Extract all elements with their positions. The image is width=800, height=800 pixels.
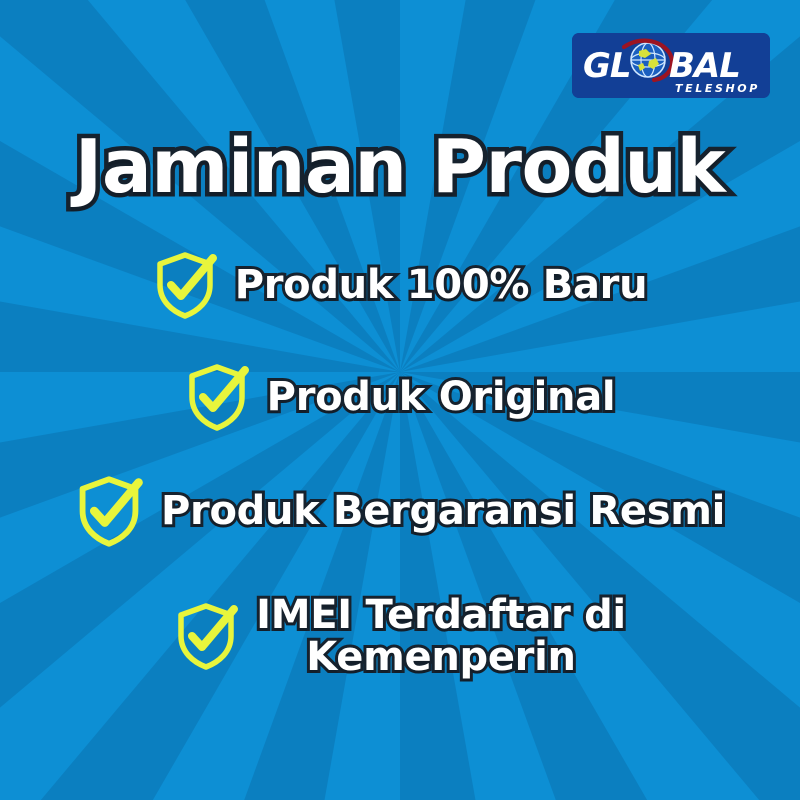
brand-logo-artwork: GL BAL TELESHOP	[572, 33, 770, 98]
shield-check-icon	[174, 601, 238, 671]
feature-row: IMEI Terdaftar di Kemenperin	[0, 594, 800, 679]
brand-logo[interactable]: GL BAL TELESHOP	[572, 33, 770, 98]
feature-label: Produk Original	[267, 376, 616, 418]
feature-list: Produk 100% Baru Produk Original Produk …	[0, 250, 800, 679]
logo-subtitle: TELESHOP	[675, 82, 760, 95]
feature-row: Produk Original	[0, 362, 800, 432]
promo-poster: GL BAL TELESHOP Jaminan Produk	[0, 0, 800, 800]
logo-text-bal: BAL	[669, 46, 740, 86]
shield-check-icon	[185, 362, 249, 432]
shield-check-icon	[153, 250, 217, 320]
page-title: Jaminan Produk	[0, 130, 800, 204]
feature-row: Produk Bergaransi Resmi	[0, 474, 800, 548]
logo-text-gl: GL	[583, 46, 631, 86]
feature-label: Produk Bergaransi Resmi	[161, 490, 725, 532]
feature-label: Produk 100% Baru	[235, 264, 648, 306]
feature-label: IMEI Terdaftar di Kemenperin	[256, 594, 626, 679]
shield-check-icon	[75, 474, 143, 548]
feature-row: Produk 100% Baru	[0, 250, 800, 320]
